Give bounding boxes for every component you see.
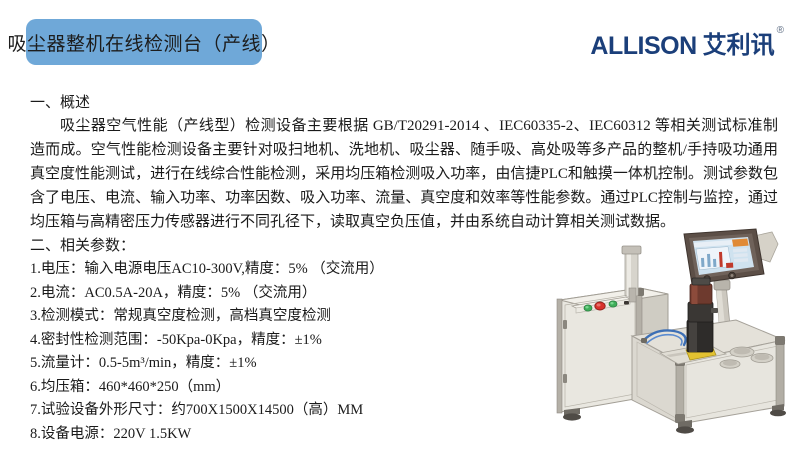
list-item: 3.检测模式：常规真空度检测，高档真空度检测	[30, 305, 500, 329]
list-item: 4.密封性检测范围：-50Kpa-0Kpa，精度：±1%	[30, 329, 500, 353]
list-item: 8.设备电源：220V 1.5KW	[30, 423, 500, 447]
page-title: 吸尘器整机在线检测台（产线）	[8, 29, 281, 56]
machine-photo	[540, 228, 800, 450]
page-header: 吸尘器整机在线检测台（产线） ALLISON 艾利讯 ®	[0, 0, 800, 86]
list-item: 2.电流：AC0.5A-20A，精度：5% （交流用）	[30, 282, 500, 306]
logo-latin-text: ALLISON	[590, 34, 696, 59]
parameters-list: 1.电压：输入电源电压AC10-300V,精度：5% （交流用） 2.电流：AC…	[30, 258, 500, 446]
list-item: 5.流量计：0.5-5m³/min，精度：±1%	[30, 352, 500, 376]
logo-cjk-text: 艾利讯	[703, 34, 775, 58]
company-logo: ALLISON 艾利讯 ®	[590, 34, 784, 59]
list-item: 6.均压箱：460*460*250（mm）	[30, 376, 500, 400]
registered-trademark-icon: ®	[777, 25, 784, 36]
list-item: 7.试验设备外形尺寸：约700X1500X14500（高）MM	[30, 399, 500, 423]
title-banner: 吸尘器整机在线检测台（产线）	[26, 19, 262, 65]
overview-paragraph: 吸尘器空气性能（产线型）检测设备主要根据 GB/T20291-2014 、IEC…	[30, 114, 778, 234]
list-item: 1.电压：输入电源电压AC10-300V,精度：5% （交流用）	[30, 258, 500, 282]
overview-heading: 一、概述	[30, 92, 778, 114]
